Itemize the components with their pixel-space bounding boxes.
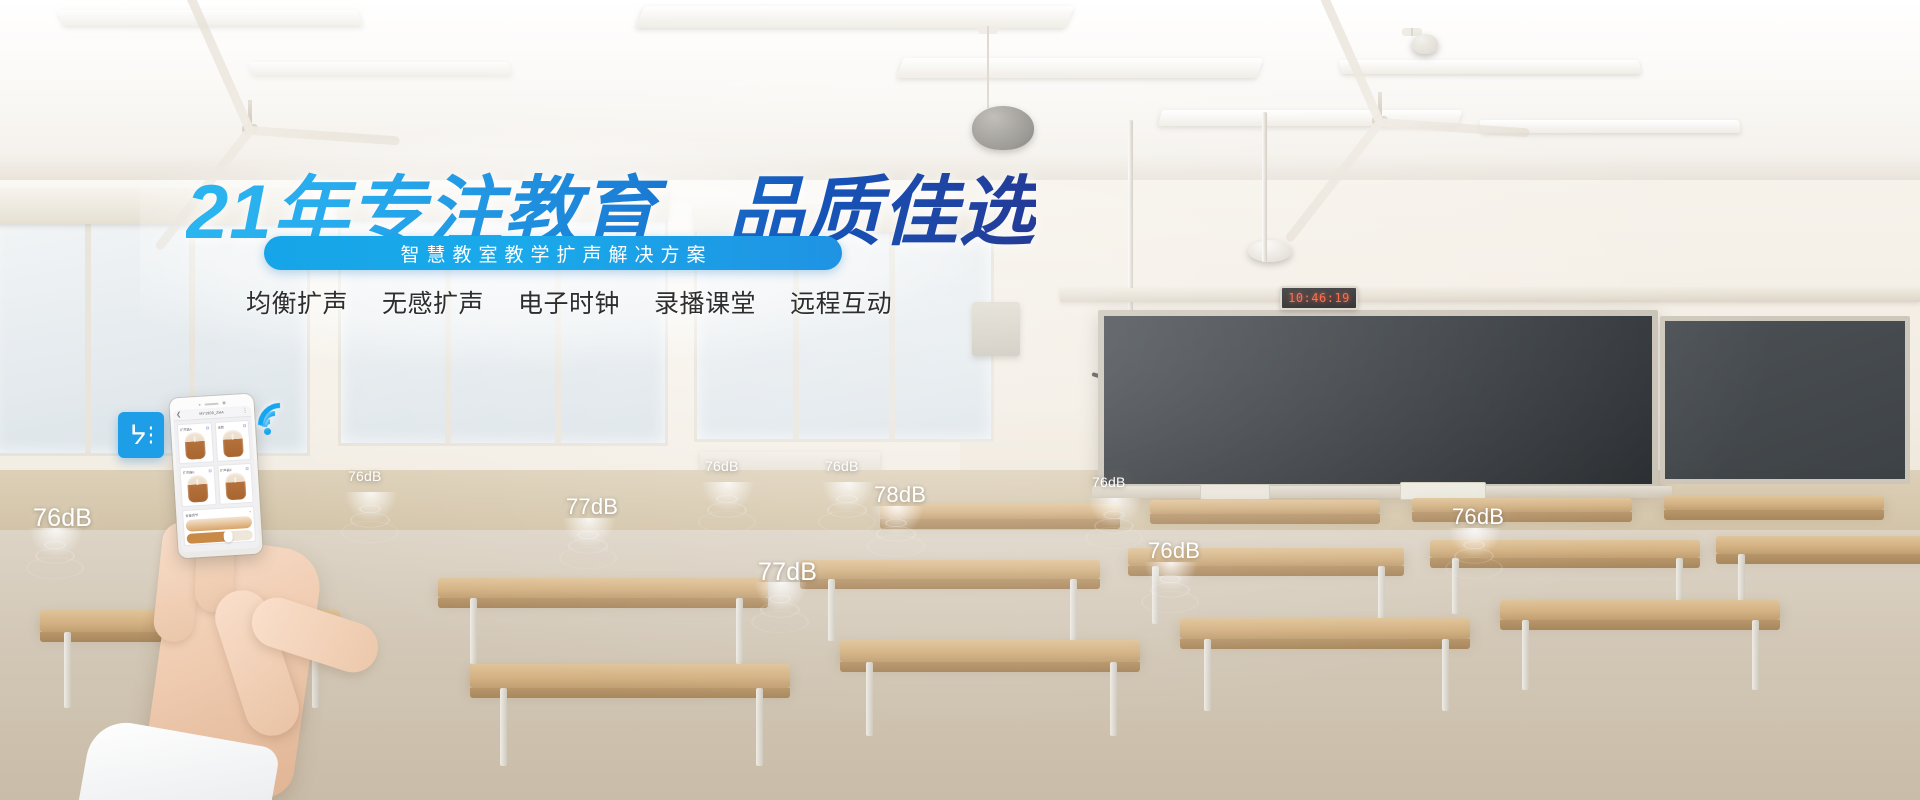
db-label-8: 76dB [1092,474,1126,490]
device-status-icon [208,469,211,472]
desk [1150,500,1380,514]
desk-leg [470,598,477,664]
bluetooth-waves [147,425,152,445]
ceiling-light-4 [897,58,1263,78]
ceiling-light-3 [636,6,1075,28]
sound-ring [1141,591,1199,613]
desk-leg [1070,579,1077,641]
sound-ring [26,557,84,579]
sound-ring [559,547,617,569]
desk-leg [500,688,507,766]
device-card-4[interactable]: 扩声器C [217,463,254,505]
clock-time: 10:46:19 [1288,291,1350,305]
db-label-7: 77dB [758,558,817,587]
plus-icon[interactable]: + [249,509,252,513]
front-camera [222,401,225,404]
desk-leg [1442,639,1449,711]
projector-pole-2 [1262,112,1267,262]
subtitle-pill-label: 智慧教室教学扩声解决方案 [393,240,712,267]
feature-item-2: 无感扩声 [382,284,484,320]
control-panel-1 [1200,484,1270,500]
device-status-icon [243,424,246,427]
chalkboard-main [1098,310,1658,490]
chevron-left-icon[interactable]: ❮ [176,412,181,418]
speaker-grille [204,402,218,405]
desk-leg [1522,620,1529,690]
bluetooth-icon: ᔭ [118,412,164,458]
desk-leg [866,662,873,736]
ceiling-light-1 [57,10,363,26]
db-label-5: 76dB [825,458,859,474]
device-card-2[interactable]: 话筒 [214,420,251,462]
desk-leg [1110,662,1117,736]
desk [1664,496,1884,510]
desk [438,578,768,598]
desk-leg [64,632,71,708]
feature-item-3: 电子时钟 [518,284,620,320]
wall-rail [1060,288,1920,302]
desk [840,640,1140,662]
sound-ring [1085,527,1143,549]
desk-leg [828,579,835,641]
volume-card-label: 音量调节 [185,512,198,518]
desk-leg [756,688,763,766]
db-label-6: 78dB [874,482,926,508]
bluetooth-glyph: ᔭ [130,422,146,448]
desk [1412,498,1632,512]
sound-ring [1445,557,1503,579]
volume-slider[interactable] [186,530,252,544]
app-title: MY1900_ZHA [184,409,239,416]
ceiling-light-6 [1339,60,1641,74]
db-label-4: 76dB [705,458,739,474]
speaker-icon [187,475,209,503]
desk [800,560,1100,579]
desk [1716,536,1920,554]
db-label-1: 76dB [33,504,92,533]
more-vertical-icon[interactable]: ⋮ [242,408,248,414]
db-label-3: 77dB [566,494,618,520]
db-label-10: 76dB [1452,504,1504,530]
ceiling-light-2 [248,62,512,75]
feature-item-5: 远程互动 [790,284,892,320]
wall-speaker [972,302,1020,356]
desk [1500,600,1780,620]
electronic-clock: 10:46:19 [1280,286,1358,310]
sound-ring [751,611,809,633]
feature-list: 均衡扩声无感扩声电子时钟录播课堂远程互动 [246,284,892,320]
device-card-grid: 扩声器A话筒扩声器B扩声器C [174,417,257,511]
desk-leg [1378,566,1385,624]
chalkboard-side [1660,316,1910,484]
chalkboard-tray [1092,486,1672,498]
speaker-icon [225,472,247,500]
device-status-icon [205,426,208,429]
db-label-9: 76dB [1148,538,1200,564]
device-card-1[interactable]: 扩声器A [177,422,214,464]
desk [1180,618,1470,639]
sound-ring [818,511,876,533]
desk-leg [1752,620,1759,690]
sound-ring [698,511,756,533]
desk [470,664,790,688]
feature-item-1: 均衡扩声 [246,284,348,320]
device-status-icon [246,467,249,470]
device-card-label: 扩声器C [220,467,232,473]
feature-item-4: 录播课堂 [654,284,756,320]
banner-stage: 10:46:19 [0,0,1920,800]
sound-ring [867,535,925,557]
device-card-label: 话筒 [217,424,224,429]
desk-leg [1204,639,1211,711]
device-card-3[interactable]: 扩声器B [179,465,216,507]
device-card-label: 扩声器B [183,469,195,475]
wifi-signal-icon [262,385,318,439]
device-card-label: 扩声器A [180,426,192,432]
speaker-icon [222,429,244,457]
smartphone[interactable]: ❮ MY1900_ZHA ⋮ 扩声器A话筒扩声器B扩声器C 音量调节 + [169,394,263,559]
desk-leg [736,598,743,664]
volume-slider-card[interactable]: 音量调节 + [182,506,256,546]
speaker-icon [185,432,207,460]
sensor-dot [198,403,200,405]
phone-screen[interactable]: ❮ MY1900_ZHA ⋮ 扩声器A话筒扩声器B扩声器C 音量调节 + [173,406,260,552]
subtitle-pill: 智慧教室教学扩声解决方案 [264,236,842,270]
